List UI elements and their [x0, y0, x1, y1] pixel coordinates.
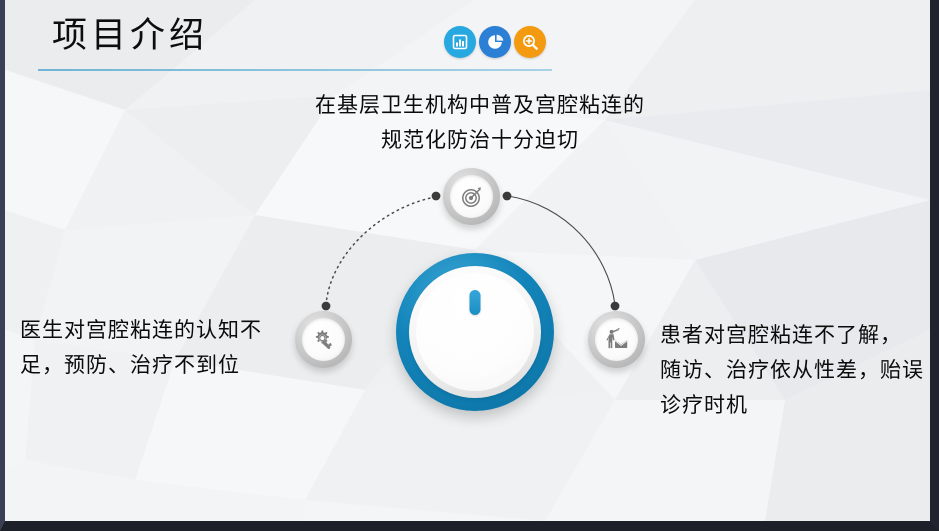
left-statement: 医生对宫腔粘连的认知不 足，预防、治疗不到位	[20, 313, 310, 383]
person-mail-icon	[605, 328, 629, 352]
right-statement-line-1: 患者对宫腔粘连不了解，	[660, 318, 932, 353]
right-statement: 患者对宫腔粘连不了解， 随访、治疗依从性差，贻误 诊疗时机	[660, 318, 932, 423]
node-target-inner	[450, 175, 493, 218]
right-statement-line-2: 随访、治疗依从性差，贻误	[660, 353, 932, 388]
power-indicator-icon	[470, 290, 481, 315]
top-statement-line-2: 规范化防治十分迫切	[200, 123, 760, 158]
hub-face	[416, 273, 534, 391]
connector-dot-target-left	[432, 192, 441, 201]
node-doctor-inner	[302, 318, 345, 361]
hub-outer-ring	[409, 266, 541, 398]
connector-dot-patient	[611, 302, 620, 311]
connector-dot-doctor	[322, 302, 331, 311]
node-patient[interactable]	[588, 311, 645, 368]
node-target[interactable]	[443, 168, 500, 225]
node-doctor[interactable]	[295, 311, 352, 368]
connector-dot-target-right	[503, 192, 512, 201]
power-button-hub[interactable]	[396, 253, 554, 411]
slide-frame-corner-top-right	[930, 0, 939, 10]
left-statement-line-2: 足，预防、治疗不到位	[20, 348, 310, 383]
target-dartboard-icon	[460, 185, 484, 209]
node-patient-inner	[595, 318, 638, 361]
gear-wrench-icon	[312, 328, 336, 352]
top-statement: 在基层卫生机构中普及宫腔粘连的 规范化防治十分迫切	[200, 88, 760, 158]
slide-canvas: 项目介绍	[0, 0, 939, 531]
top-statement-line-1: 在基层卫生机构中普及宫腔粘连的	[200, 88, 760, 123]
right-statement-line-3: 诊疗时机	[660, 388, 932, 423]
left-statement-line-1: 医生对宫腔粘连的认知不	[20, 313, 310, 348]
